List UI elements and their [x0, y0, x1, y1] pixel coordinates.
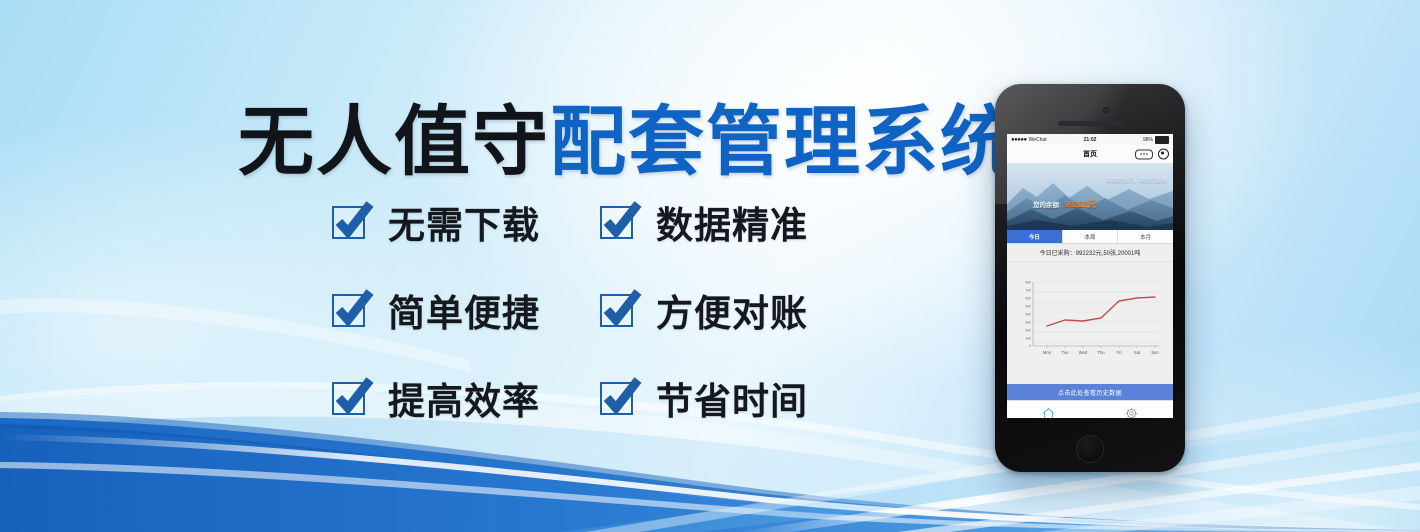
status-bar-right: 98% [1096, 136, 1169, 144]
feature-item-4: 方便对账 [600, 283, 868, 337]
svg-text:Fri: Fri [1117, 350, 1122, 355]
checkbox-checked-icon [600, 290, 640, 330]
nav-title: 首页 [1083, 149, 1097, 159]
svg-text:500: 500 [1025, 304, 1031, 308]
checkbox-checked-icon [332, 378, 372, 418]
phone-home-button[interactable] [1076, 435, 1104, 463]
svg-text:Sun: Sun [1151, 350, 1159, 355]
page-title: 无人值守配套管理系统 [238, 103, 1018, 183]
hero-greeting: 尊敬的张三，欢迎您登录 [1106, 176, 1167, 184]
feature-label: 节省时间 [656, 371, 808, 425]
feature-item-3: 简单便捷 [332, 283, 600, 337]
tabbar-item-home[interactable]: 首页 [1007, 401, 1090, 418]
feature-label: 数据精准 [656, 195, 808, 249]
tabbar-item-profile[interactable]: 个人中心 [1090, 401, 1173, 418]
svg-text:Thu: Thu [1097, 350, 1105, 355]
hero-balance-value: 99222元 [1064, 198, 1096, 210]
carrier-label: WeChat [1029, 137, 1047, 143]
period-tabs: 今日 本周 本月 [1007, 230, 1173, 244]
hero-balance: 您的余额: 99222元 [1033, 198, 1096, 210]
bottom-tab-bar: 首页 个人中心 [1007, 400, 1173, 418]
tab-month[interactable]: 本月 [1118, 230, 1173, 243]
hero-balance-label: 您的余额: [1033, 199, 1061, 209]
nav-bar: 首页 [1007, 145, 1173, 164]
signal-dots-icon: ●●●●● [1011, 137, 1027, 143]
feature-list: 无需下载 数据精准 简单便捷 [332, 178, 872, 442]
svg-text:Mon: Mon [1043, 350, 1052, 355]
svg-text:100: 100 [1025, 336, 1031, 340]
headline-accent-part: 配套管理系统 [550, 100, 1018, 185]
svg-text:Wed: Wed [1079, 350, 1088, 355]
svg-text:Sat: Sat [1134, 350, 1141, 355]
svg-text:200: 200 [1025, 328, 1031, 332]
checkbox-checked-icon [332, 290, 372, 330]
checkbox-checked-icon [600, 378, 640, 418]
feature-label: 无需下载 [388, 195, 540, 249]
feature-item-6: 节省时间 [600, 371, 868, 425]
feature-item-5: 提高效率 [332, 371, 600, 425]
phone-mockup: ●●●●● WeChat 21:02 98% 首页 [995, 84, 1185, 472]
view-history-button[interactable]: 点击此处查看历史数据 [1007, 384, 1173, 400]
promo-banner: 无人值守配套管理系统 无需下载 数据精准 [0, 0, 1420, 532]
mountain-illustration [1007, 164, 1173, 230]
checkbox-checked-icon [600, 202, 640, 242]
gear-icon [1125, 407, 1138, 419]
status-bar-left: ●●●●● WeChat [1011, 137, 1084, 143]
svg-text:800: 800 [1025, 280, 1031, 284]
svg-text:0: 0 [1029, 344, 1031, 348]
svg-text:300: 300 [1025, 320, 1031, 324]
checkbox-checked-icon [332, 202, 372, 242]
hero-banner: 尊敬的张三，欢迎您登录 您的余额: 99222元 [1007, 164, 1173, 230]
status-bar-time: 21:02 [1084, 137, 1097, 143]
phone-screen: ●●●●● WeChat 21:02 98% 首页 [1007, 134, 1173, 418]
tab-week[interactable]: 本周 [1063, 230, 1119, 243]
feature-item-2: 数据精准 [600, 195, 868, 249]
home-icon [1042, 407, 1055, 419]
feature-item-1: 无需下载 [332, 195, 600, 249]
headline-dark-part: 无人值守 [238, 100, 550, 185]
feature-label: 方便对账 [656, 283, 808, 337]
tab-today[interactable]: 今日 [1007, 230, 1063, 243]
svg-text:600: 600 [1025, 296, 1031, 300]
svg-text:Tue: Tue [1061, 350, 1069, 355]
phone-camera-icon [1103, 107, 1109, 113]
battery-icon [1155, 136, 1169, 144]
chart-area: 800 700 600 500 400 300 200 100 0 [1007, 262, 1173, 384]
weekly-line-chart: 800 700 600 500 400 300 200 100 0 [1007, 270, 1173, 376]
phone-speaker-grille [1058, 121, 1122, 126]
svg-text:700: 700 [1025, 288, 1031, 292]
summary-text: 今日已采购：992232元,50张,20001吨 [1007, 244, 1173, 262]
status-bar: ●●●●● WeChat 21:02 98% [1007, 134, 1173, 145]
svg-text:400: 400 [1025, 312, 1031, 316]
more-dots-icon[interactable] [1135, 149, 1153, 159]
nav-actions [1135, 149, 1169, 160]
feature-label: 简单便捷 [388, 283, 540, 337]
battery-percent-label: 98% [1143, 137, 1153, 143]
feature-label: 提高效率 [388, 371, 540, 425]
target-circle-icon[interactable] [1158, 149, 1169, 160]
